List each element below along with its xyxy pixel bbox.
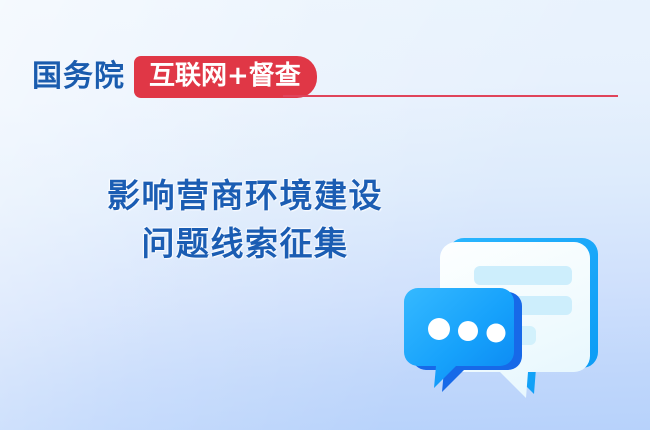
title-line-2: 问题线索征集 [60,220,430,268]
banner-root: 国务院 互联网+督查 影响营商环境建设 问题线索征集 [0,0,650,430]
internet-supervision-badge: 互联网+督查 [134,56,317,98]
header: 国务院 互联网+督查 [32,57,317,97]
chat-bubbles-illustration [398,212,638,402]
title-line-1: 影响营商环境建设 [60,172,430,220]
chat-bubbles-svg [398,212,638,402]
page-title: 影响营商环境建设 问题线索征集 [60,172,430,268]
header-divider-line [283,95,618,97]
gov-label: 国务院 [32,62,125,92]
